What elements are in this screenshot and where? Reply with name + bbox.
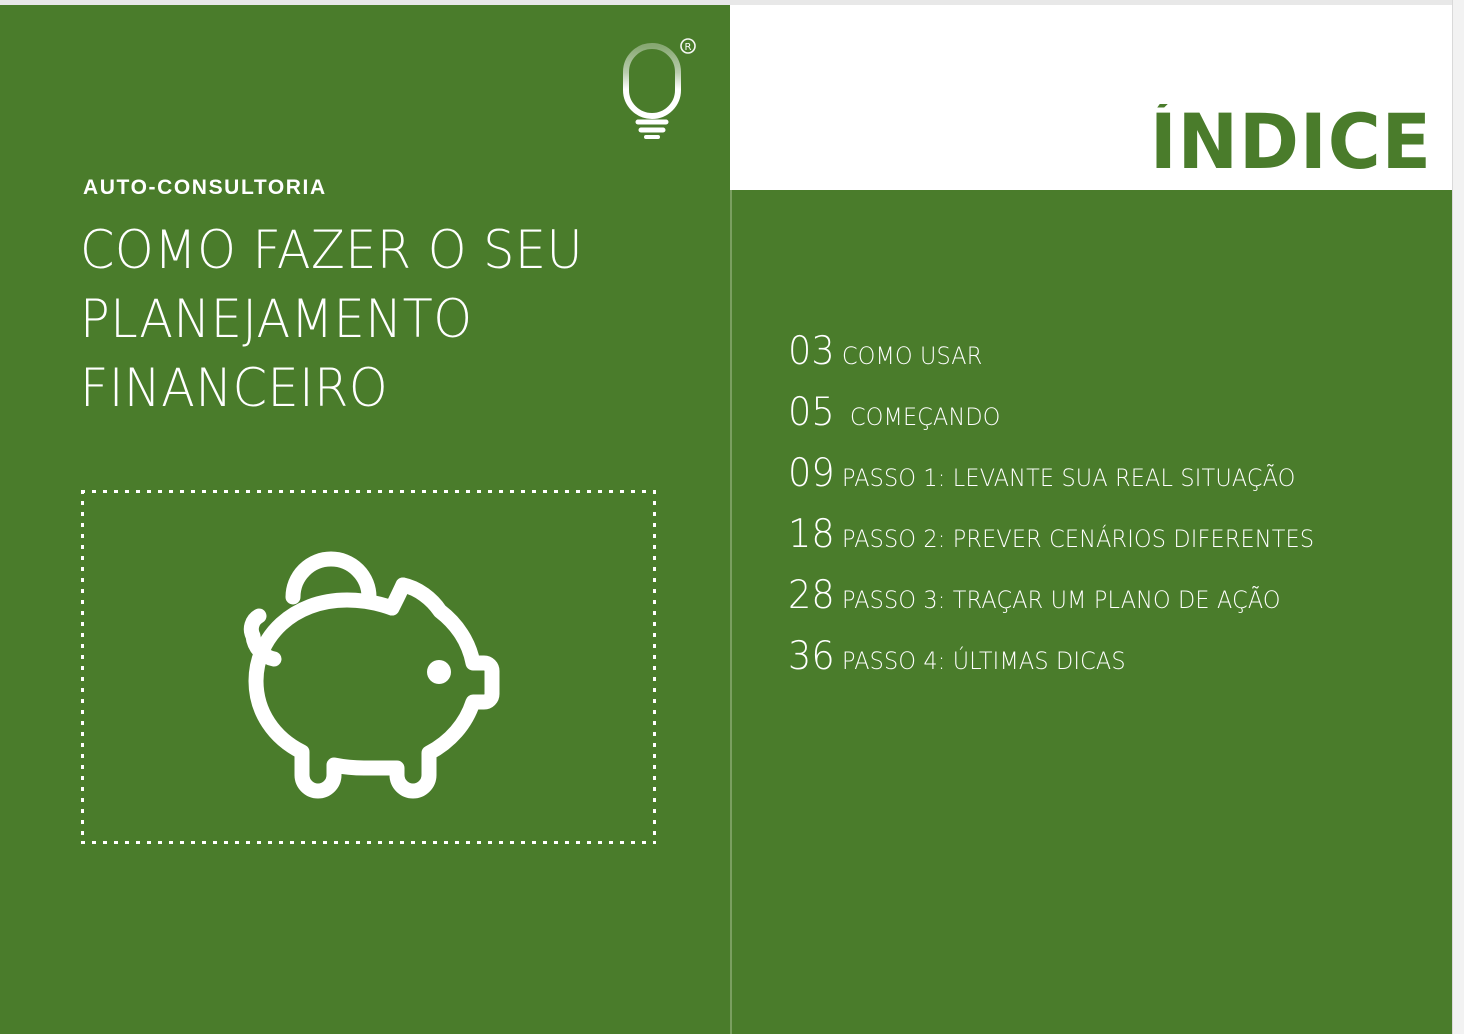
cover-title-line-3: FINANCEIRO	[80, 354, 638, 423]
toc-page-number: 09	[788, 454, 835, 493]
toc-entry-label: COMO USAR	[842, 344, 982, 368]
svg-text:R: R	[685, 42, 692, 53]
cover-eyebrow: AUTO-CONSULTORIA	[83, 176, 327, 200]
piggy-bank-icon	[226, 524, 512, 810]
toc-page-number: 18	[788, 515, 835, 554]
toc-header-background	[730, 0, 1464, 190]
cover-title-line-2: PLANEJAMENTO	[80, 285, 638, 354]
toc-entry-2[interactable]: 09 PASSO 1: LEVANTE SUA REAL SITUAÇÃO	[788, 454, 1448, 515]
cover-title: COMO FAZER O SEU PLANEJAMENTO FINANCEIRO	[80, 216, 638, 423]
lightbulb-logo: R	[604, 32, 700, 142]
page-frame-edge	[1452, 0, 1453, 1034]
toc-page-number: 28	[788, 576, 835, 615]
toc-entry-label: PASSO 2: PREVER CENÁRIOS DIFERENTES	[842, 527, 1314, 551]
toc-entry-0[interactable]: 03 COMO USAR	[788, 332, 1448, 393]
toc-page-number: 05	[788, 393, 835, 432]
toc-page-number: 36	[788, 637, 835, 676]
toc-entry-3[interactable]: 18 PASSO 2: PREVER CENÁRIOS DIFERENTES	[788, 515, 1448, 576]
toc-list: 03 COMO USAR 05 COMEÇANDO 09 PASSO 1: LE…	[788, 332, 1448, 698]
page-gutter-line	[730, 190, 732, 1034]
toc-page-number: 03	[788, 332, 835, 371]
toc-entry-label: PASSO 3: TRAÇAR UM PLANO DE AÇÃO	[842, 588, 1281, 612]
toc-entry-4[interactable]: 28 PASSO 3: TRAÇAR UM PLANO DE AÇÃO	[788, 576, 1448, 637]
toc-entry-label: COMEÇANDO	[850, 405, 1001, 429]
page-frame-top	[0, 0, 1464, 5]
toc-entry-label: PASSO 1: LEVANTE SUA REAL SITUAÇÃO	[842, 466, 1296, 490]
document-page: R AUTO-CONSULTORIA COMO FAZER O SEU PLAN…	[0, 0, 1464, 1034]
toc-entry-5[interactable]: 36 PASSO 4: ÚLTIMAS DICAS	[788, 637, 1448, 698]
page-frame-right	[1453, 0, 1464, 1034]
illustration-frame	[81, 490, 656, 844]
cover-title-line-1: COMO FAZER O SEU	[80, 216, 638, 285]
toc-entry-label: PASSO 4: ÚLTIMAS DICAS	[842, 649, 1126, 673]
toc-entry-1[interactable]: 05 COMEÇANDO	[788, 393, 1448, 454]
